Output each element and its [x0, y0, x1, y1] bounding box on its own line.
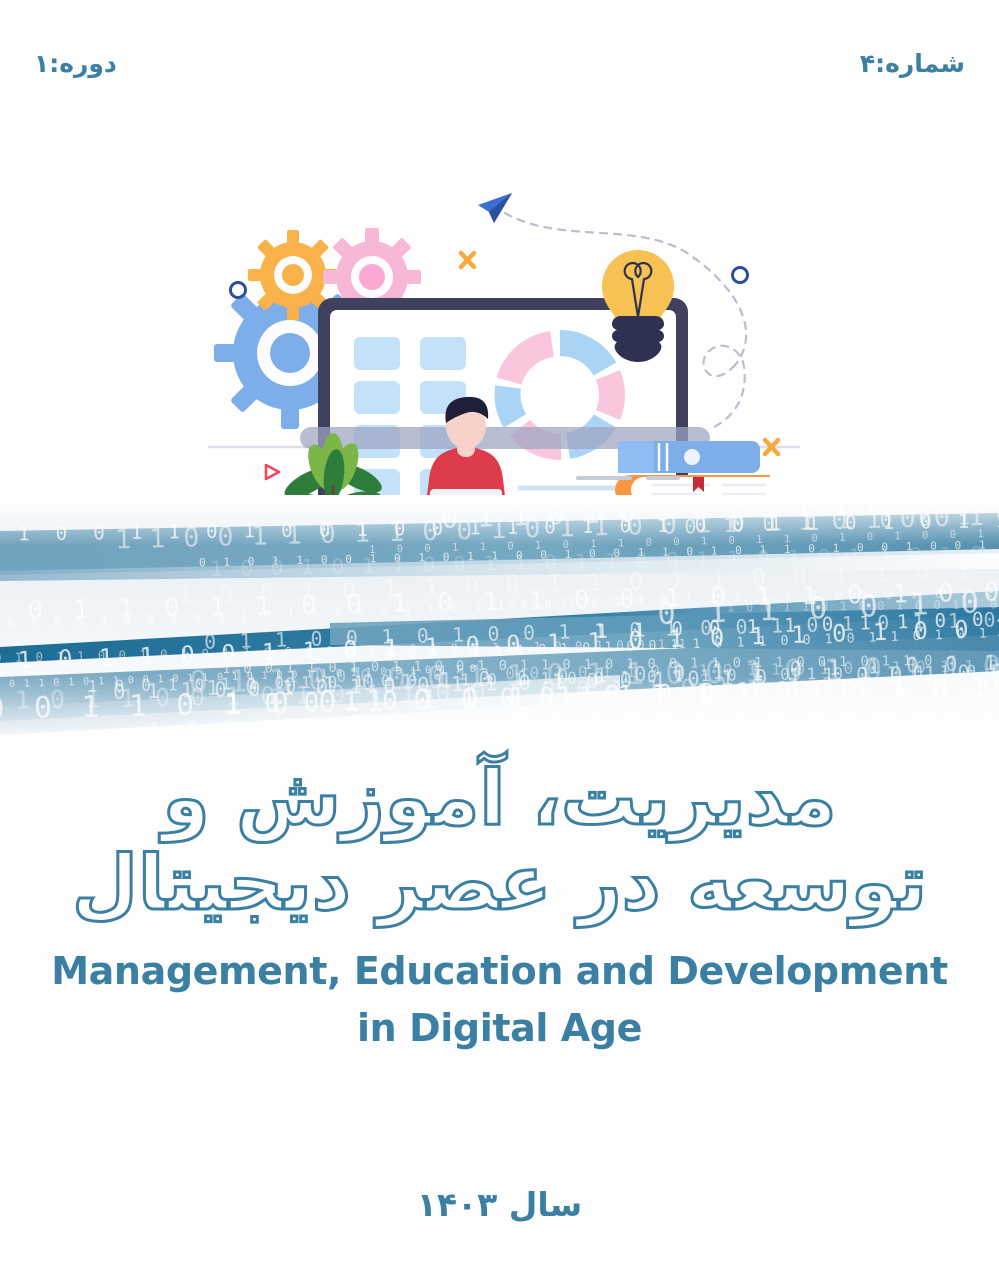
books-stack	[609, 441, 780, 495]
year-label: سال ۱۴۰۳	[0, 1185, 999, 1224]
english-title-line-2: in Digital Age	[0, 1000, 999, 1057]
title-block: مدیریت، آموزش و توسعه در عصر دیجیتال Man…	[0, 755, 999, 1057]
book-orange	[615, 475, 770, 495]
issue-number-label: شماره:۴	[860, 49, 965, 78]
volume-number-label: دوره:۱	[34, 49, 117, 78]
binary-banner: 0 1 1 0 1 0 0 1 1 0 1 1 0 0 1 0 1 0 1 1 …	[0, 495, 999, 745]
circle-decor-right	[733, 268, 748, 283]
persian-title-line-2: توسعه در عصر دیجیتال	[0, 840, 999, 925]
persian-title-line-1: مدیریت، آموزش و	[0, 755, 999, 840]
journal-cover: شماره:۴ دوره:۱	[0, 0, 999, 1280]
triangle-decor	[266, 465, 279, 479]
circle-decor-left	[231, 283, 246, 298]
english-title-line-1: Management, Education and Development	[0, 943, 999, 1000]
book-blue-top	[618, 441, 760, 473]
cover-illustration	[0, 95, 999, 495]
cover-header: شماره:۴ دوره:۱	[0, 40, 999, 86]
